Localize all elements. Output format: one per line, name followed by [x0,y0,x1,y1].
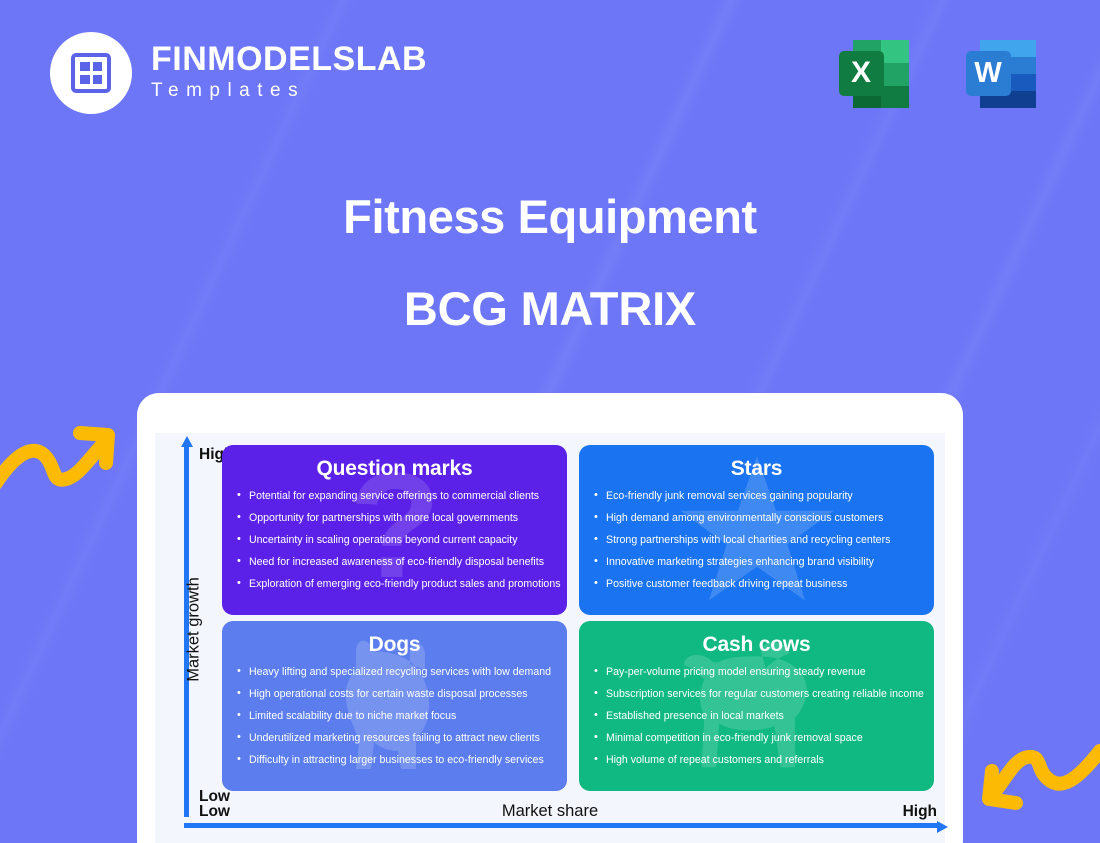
list-item: Innovative marketing strategies enhancin… [593,557,920,568]
list-item: Exploration of emerging eco-friendly pro… [236,579,553,590]
quadrant-cash-cows[interactable]: Cash cows Pay-per-volume pricing model e… [579,621,934,791]
list-item: Potential for expanding service offering… [236,491,553,502]
list-item: Established presence in local markets [593,711,920,722]
svg-text:X: X [851,56,871,89]
title-block: Fitness Equipment BCG MATRIX [0,193,1100,332]
grid-squares-icon [71,53,111,93]
list-item: High operational costs for certain waste… [236,689,553,700]
x-axis-label: Market share [155,802,945,821]
brand-name: FINMODELSLAB [151,42,427,77]
office-format-icons: X W [829,28,1048,120]
quadrant-question-marks[interactable]: ? Question marks Potential for expanding… [222,445,567,615]
list-item: Positive customer feedback driving repea… [593,579,920,590]
page-header: FINMODELSLAB Templates X [0,0,1100,150]
list-item: Eco-friendly junk removal services gaini… [593,491,920,502]
quadrant-title: Cash cows [593,633,920,657]
svg-text:W: W [974,57,1002,89]
quadrant-dogs[interactable]: Dogs Heavy lifting and specialized recyc… [222,621,567,791]
list-item: Strong partnerships with local charities… [593,535,920,546]
list-item: Limited scalability due to niche market … [236,711,553,722]
list-item: Subscription services for regular custom… [593,689,920,700]
list-item: Need for increased awareness of eco-frie… [236,557,553,568]
squiggly-arrow-up-right-icon [0,405,124,495]
x-axis-arrowhead [937,821,948,833]
brand-mark-circle [50,32,132,114]
excel-icon[interactable]: X [829,28,921,120]
page-title: Fitness Equipment [0,193,1100,240]
list-item: Minimal competition in eco-friendly junk… [593,733,920,744]
squiggly-arrow-down-left-icon [972,735,1100,830]
brand-logo: FINMODELSLAB Templates [50,32,427,114]
quadrant-title: Question marks [236,457,553,481]
list-item: High demand among environmentally consci… [593,513,920,524]
list-item: Uncertainty in scaling operations beyond… [236,535,553,546]
brand-subtitle: Templates [151,77,427,105]
quadrant-stars[interactable]: Stars Eco-friendly junk removal services… [579,445,934,615]
quadrant-title: Stars [593,457,920,481]
list-item: Heavy lifting and specialized recycling … [236,667,553,678]
list-item: Opportunity for partnerships with more l… [236,513,553,524]
quadrant-bullet-list: Eco-friendly junk removal services gaini… [593,491,920,590]
word-icon[interactable]: W [956,28,1048,120]
list-item: High volume of repeat customers and refe… [593,755,920,766]
list-item: Difficulty in attracting larger business… [236,755,553,766]
quadrant-bullet-list: Potential for expanding service offering… [236,491,553,590]
bcg-matrix-chart: High Low Market growth Low High Market s… [155,433,945,843]
y-axis-label: Market growth [185,560,204,700]
quadrant-bullet-list: Pay-per-volume pricing model ensuring st… [593,667,920,766]
list-item: Pay-per-volume pricing model ensuring st… [593,667,920,678]
x-axis-line [184,823,941,828]
quadrant-bullet-list: Heavy lifting and specialized recycling … [236,667,553,766]
list-item: Underutilized marketing resources failin… [236,733,553,744]
quadrant-title: Dogs [236,633,553,657]
page-subtitle: BCG MATRIX [0,285,1100,332]
matrix-card: High Low Market growth Low High Market s… [137,393,963,843]
